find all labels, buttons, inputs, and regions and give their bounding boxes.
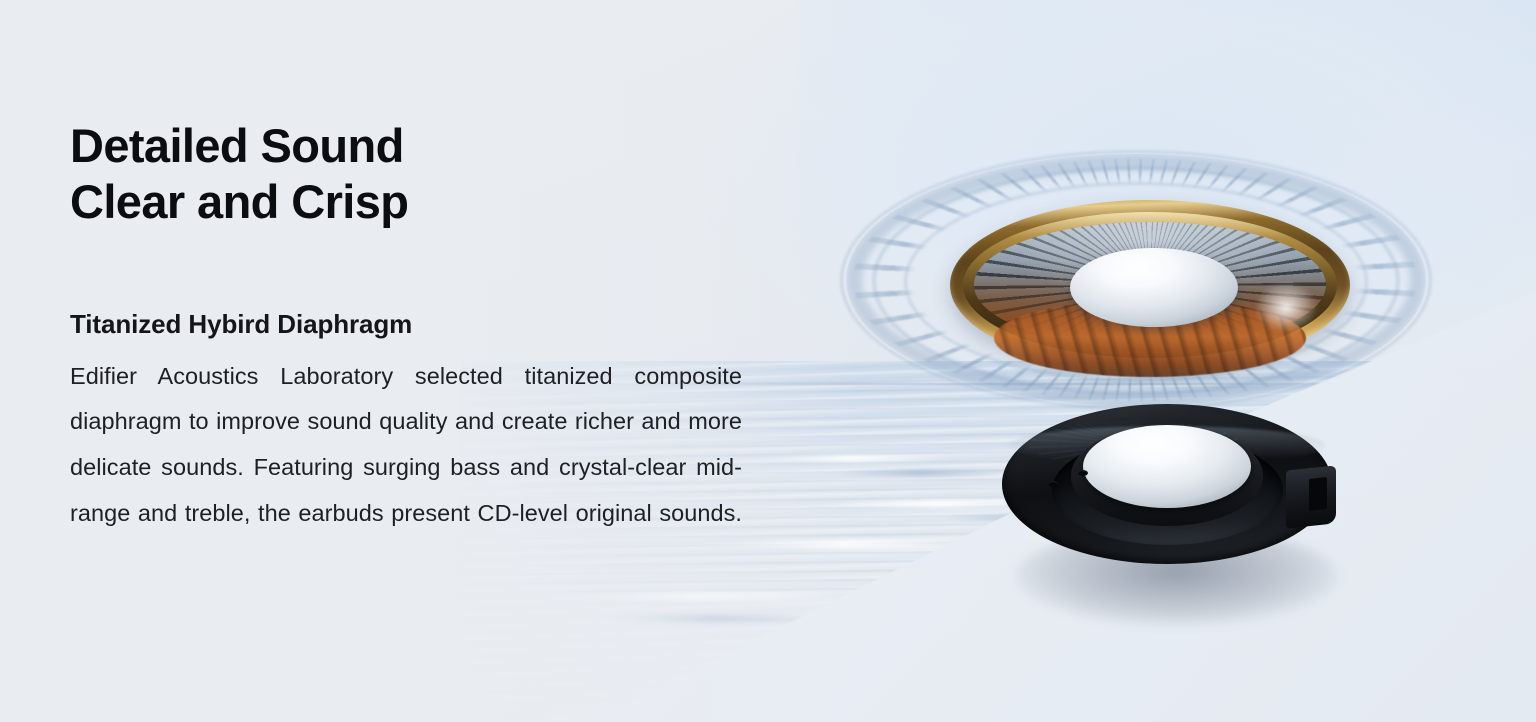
vent-hole (1078, 470, 1088, 476)
driver-center-dome (1070, 248, 1238, 328)
gold-speaker-driver (950, 200, 1350, 370)
black-driver-assembly (1002, 398, 1352, 608)
text-content-column: Detailed Sound Clear and Crisp Titanized… (70, 118, 742, 582)
page-title: Detailed Sound Clear and Crisp (70, 118, 742, 231)
product-feature-banner: Detailed Sound Clear and Crisp Titanized… (0, 0, 1536, 722)
black-driver-center-dome (1083, 425, 1251, 508)
gold-driver-assembly (846, 148, 1426, 416)
driver-specular-highlight (1254, 282, 1318, 333)
water-shadow-streak (840, 470, 1010, 476)
water-highlight-streak (560, 592, 860, 601)
water-highlight-streak (760, 455, 960, 462)
feature-description: Edifier Acoustics Laboratory selected ti… (70, 340, 742, 582)
vent-hole (1048, 481, 1058, 487)
black-driver-housing (1002, 404, 1332, 564)
housing-notch-cut (1309, 477, 1327, 511)
feature-subheading: Titanized Hybird Diaphragm (70, 231, 742, 340)
